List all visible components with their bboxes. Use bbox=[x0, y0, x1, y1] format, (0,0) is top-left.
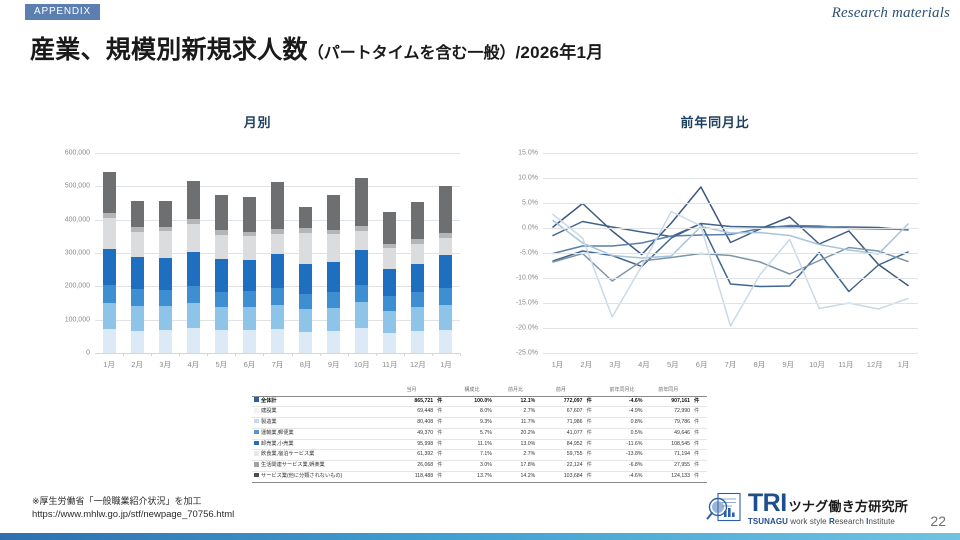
bar-slot-6[interactable] bbox=[263, 153, 291, 353]
appendix-tag: APPENDIX bbox=[25, 4, 100, 20]
table-body: 全体計865,721件100.0%12.1%772,097件-4.6%907,1… bbox=[252, 396, 707, 482]
table-cell-current: 26,068 bbox=[388, 461, 435, 472]
bar-segment-3 bbox=[383, 269, 396, 296]
bar-segment-0 bbox=[327, 331, 340, 353]
bar-segment-6 bbox=[355, 178, 368, 226]
research-materials-label: Research materials bbox=[832, 5, 950, 22]
bar-segment-0 bbox=[103, 329, 116, 353]
th-blank bbox=[252, 386, 388, 396]
bar-segment-4 bbox=[103, 218, 116, 249]
line-ytick-0: 15.0% bbox=[518, 150, 538, 157]
bar-segment-3 bbox=[187, 252, 200, 286]
table-cell-current: 69,448 bbox=[388, 407, 435, 418]
bar-segment-0 bbox=[411, 331, 424, 353]
line-gridline-2 bbox=[543, 203, 918, 204]
bar-segment-6 bbox=[243, 197, 256, 232]
line-xlabel-5: 6月 bbox=[687, 359, 716, 370]
table-cell-unit-1: 件 bbox=[435, 439, 450, 450]
bar-chart-plot-area: 600,000500,000400,000300,000200,000100,0… bbox=[95, 153, 460, 353]
table-cell-mom: 2.7% bbox=[494, 407, 537, 418]
table-cell-prev-year: 907,161 bbox=[644, 396, 692, 407]
bar-xlabel-3: 4月 bbox=[179, 359, 207, 370]
th-composition: 構成比 bbox=[450, 386, 494, 396]
bar-slot-3[interactable] bbox=[179, 153, 207, 353]
bar-segment-1 bbox=[383, 311, 396, 333]
bar-xtick-11 bbox=[432, 353, 433, 356]
bar-segment-6 bbox=[271, 182, 284, 229]
bar-segment-3 bbox=[271, 254, 284, 288]
line-xlabel-12: 1月 bbox=[889, 359, 918, 370]
line-chart-title: 前年同月比 bbox=[495, 112, 935, 131]
legend-swatch-icon bbox=[254, 419, 259, 424]
table-cell-yoy: -4.9% bbox=[599, 407, 644, 418]
bar-columns bbox=[95, 153, 460, 353]
bar-segment-3 bbox=[159, 258, 172, 290]
table-cell-mom: 11.7% bbox=[494, 418, 537, 429]
bar-segment-3 bbox=[355, 250, 368, 285]
bar-segment-4 bbox=[271, 234, 284, 254]
line-xlabel-1: 2月 bbox=[572, 359, 601, 370]
table-row[interactable]: 製造業80,408件9.3%11.7%71,986件0.8%79,786件 bbox=[252, 418, 707, 429]
industry-data-table: 当月 構成比 前月比 前月 前年同月比 前年同月 全体計865,721件100.… bbox=[252, 386, 707, 483]
bar-xtick-7 bbox=[320, 353, 321, 356]
bar-segment-1 bbox=[355, 302, 368, 328]
bar-xtick-6 bbox=[292, 353, 293, 356]
bar-xtick-5 bbox=[263, 353, 264, 356]
stacked-bar-6月-5[interactable] bbox=[243, 197, 256, 353]
bar-xtick-2 bbox=[179, 353, 180, 356]
table-cell-current: 118,488 bbox=[388, 472, 435, 483]
stacked-bar-9月-8[interactable] bbox=[327, 195, 340, 353]
legend-swatch-icon bbox=[254, 451, 259, 456]
line-xlabel-0: 1月 bbox=[543, 359, 572, 370]
th-unit-1 bbox=[435, 386, 450, 396]
stacked-bar-10月-9[interactable] bbox=[355, 178, 368, 353]
line-gridline-3 bbox=[543, 228, 918, 229]
table-cell-unit-3: 件 bbox=[692, 461, 707, 472]
th-current-month: 当月 bbox=[388, 386, 435, 396]
table-cell-mom: 13.0% bbox=[494, 439, 537, 450]
table-cell-composition: 13.7% bbox=[450, 472, 494, 483]
bar-xtick-0 bbox=[123, 353, 124, 356]
bar-chart-x-axis-labels: 1月2月3月4月5月6月7月8月9月10月11月12月1月 bbox=[95, 359, 460, 370]
table-cell-mom: 20.2% bbox=[494, 428, 537, 439]
table-row[interactable]: 生活関連サービス業,娯楽業26,068件3.0%17.8%22,124件-6.8… bbox=[252, 461, 707, 472]
line-xlabel-3: 4月 bbox=[630, 359, 659, 370]
bar-segment-1 bbox=[439, 305, 452, 330]
table-row[interactable]: サービス業(他に分類されないもの)118,488件13.7%14.2%103,6… bbox=[252, 472, 707, 483]
table-cell-prev-year: 72,990 bbox=[644, 407, 692, 418]
stacked-bar-1月-0[interactable] bbox=[103, 172, 116, 353]
table-cell-prev-month: 22,124 bbox=[537, 461, 584, 472]
bar-ytick-6: 0 bbox=[86, 350, 90, 357]
table-header: 当月 構成比 前月比 前月 前年同月比 前年同月 bbox=[252, 386, 707, 396]
legend-swatch-icon bbox=[254, 462, 259, 467]
line-xlabel-2: 3月 bbox=[601, 359, 630, 370]
bar-segment-0 bbox=[439, 330, 452, 353]
bar-segment-3 bbox=[131, 257, 144, 289]
line-gridline-6 bbox=[543, 303, 918, 304]
stacked-bar-7月-6[interactable] bbox=[271, 182, 284, 353]
tri-logo-text: TRI ツナグ働き方研究所 TSUNAGU work style Researc… bbox=[748, 491, 908, 526]
table-row[interactable]: 卸売業,小売業95,998件11.1%13.0%84,952件-11.6%108… bbox=[252, 439, 707, 450]
table-cell-composition: 100.0% bbox=[450, 396, 494, 407]
bar-segment-2 bbox=[299, 294, 312, 309]
table-cell-yoy: 0.5% bbox=[599, 428, 644, 439]
table-cell-mom: 14.2% bbox=[494, 472, 537, 483]
bar-slot-9[interactable] bbox=[348, 153, 376, 353]
table-cell-yoy: -6.8% bbox=[599, 461, 644, 472]
bar-chart-title: 月別 bbox=[45, 112, 470, 131]
line-chart-x-axis-labels: 1月2月3月4月5月6月7月8月9月10月11月12月1月 bbox=[543, 359, 918, 370]
line-series-1[interactable] bbox=[553, 187, 908, 286]
table-cell-prev-year: 49,646 bbox=[644, 428, 692, 439]
table-cell-prev-month: 772,097 bbox=[537, 396, 584, 407]
line-gridline-5 bbox=[543, 278, 918, 279]
bar-slot-11[interactable] bbox=[404, 153, 432, 353]
bar-slot-2[interactable] bbox=[151, 153, 179, 353]
industry-label: 生活関連サービス業,娯楽業 bbox=[261, 462, 325, 468]
bar-xtick-4 bbox=[235, 353, 236, 356]
source-note: ※厚生労働省「一般職業紹介状況」を加工 https://www.mhlw.go.… bbox=[32, 495, 234, 522]
th-unit-3 bbox=[692, 386, 707, 396]
line-gridline-0 bbox=[543, 153, 918, 154]
bar-segment-4 bbox=[131, 232, 144, 257]
bar-segment-6 bbox=[439, 186, 452, 234]
table-cell-prev-year: 71,194 bbox=[644, 450, 692, 461]
table-cell-mom: 12.1% bbox=[494, 396, 537, 407]
bar-segment-1 bbox=[103, 303, 116, 329]
line-xlabel-10: 11月 bbox=[831, 359, 860, 370]
line-chart-plot-area: 15.0%10.0%5.0%0.0%-5.0%-10.0%-15.0%-20.0… bbox=[543, 153, 918, 353]
th-mom-ratio: 前月比 bbox=[494, 386, 537, 396]
legend-swatch-icon bbox=[254, 408, 259, 413]
stacked-bar-12月-11[interactable] bbox=[411, 202, 424, 353]
table-cell-mom: 2.7% bbox=[494, 450, 537, 461]
bar-xtick-10 bbox=[404, 353, 405, 356]
table-row[interactable]: 運輸業,郵便業49,370件5.7%20.2%41,077件0.5%49,646… bbox=[252, 428, 707, 439]
bar-segment-1 bbox=[327, 308, 340, 331]
source-note-line1: ※厚生労働省「一般職業紹介状況」を加工 bbox=[32, 495, 234, 508]
table-cell-yoy: -13.8% bbox=[599, 450, 644, 461]
bar-segment-2 bbox=[187, 286, 200, 303]
table-cell-unit-2: 件 bbox=[585, 407, 600, 418]
bar-xlabel-8: 9月 bbox=[320, 359, 348, 370]
table-cell-current: 80,408 bbox=[388, 418, 435, 429]
bar-segment-6 bbox=[159, 201, 172, 227]
bar-ytick-0: 600,000 bbox=[65, 150, 90, 157]
tri-logo-tagline: TSUNAGU work style Research Institute bbox=[748, 518, 908, 526]
bar-segment-3 bbox=[327, 262, 340, 292]
bar-segment-0 bbox=[159, 330, 172, 353]
table-cell-unit-3: 件 bbox=[692, 450, 707, 461]
industry-label: 製造業 bbox=[261, 419, 277, 425]
bar-slot-4[interactable] bbox=[207, 153, 235, 353]
table-cell-industry-name: サービス業(他に分類されないもの) bbox=[252, 472, 388, 483]
line-ytick-2: 5.0% bbox=[522, 200, 538, 207]
table-cell-prev-year: 27,955 bbox=[644, 461, 692, 472]
table-cell-unit-3: 件 bbox=[692, 407, 707, 418]
line-chart-yoy: 前年同月比 15.0%10.0%5.0%0.0%-5.0%-10.0%-15.0… bbox=[495, 112, 935, 353]
bar-segment-6 bbox=[187, 181, 200, 219]
bar-segment-3 bbox=[299, 264, 312, 294]
table-cell-prev-year: 124,133 bbox=[644, 472, 692, 483]
table-header-row: 当月 構成比 前月比 前月 前年同月比 前年同月 bbox=[252, 386, 707, 396]
line-series-2[interactable] bbox=[553, 226, 908, 254]
bar-segment-6 bbox=[327, 195, 340, 230]
table-cell-industry-name: 生活関連サービス業,娯楽業 bbox=[252, 461, 388, 472]
line-ytick-1: 10.0% bbox=[518, 175, 538, 182]
bar-segment-2 bbox=[131, 289, 144, 306]
bar-xlabel-2: 3月 bbox=[151, 359, 179, 370]
bar-segment-4 bbox=[327, 234, 340, 262]
tri-logo-research: esearch bbox=[835, 517, 866, 526]
bar-segment-0 bbox=[299, 332, 312, 353]
bar-segment-2 bbox=[159, 290, 172, 306]
bar-xlabel-12: 1月 bbox=[432, 359, 460, 370]
line-ytick-5: -10.0% bbox=[516, 275, 538, 282]
table-cell-current: 95,998 bbox=[388, 439, 435, 450]
bar-segment-1 bbox=[187, 303, 200, 328]
bar-xtick-8 bbox=[348, 353, 349, 356]
stacked-bar-11月-10[interactable] bbox=[383, 212, 396, 353]
line-ytick-6: -15.0% bbox=[516, 300, 538, 307]
bar-segment-2 bbox=[439, 288, 452, 305]
tri-logo-workstyle: work style bbox=[788, 517, 829, 526]
table-cell-prev-month: 103,684 bbox=[537, 472, 584, 483]
bar-segment-4 bbox=[383, 248, 396, 269]
table-cell-industry-name: 製造業 bbox=[252, 418, 388, 429]
table-cell-prev-month: 41,077 bbox=[537, 428, 584, 439]
bar-segment-2 bbox=[411, 292, 424, 307]
table-cell-yoy: -4.6% bbox=[599, 396, 644, 407]
bottom-accent-bar bbox=[0, 533, 960, 540]
bar-xlabel-4: 5月 bbox=[207, 359, 235, 370]
industry-label: 飲食業,宿泊サービス業 bbox=[261, 451, 314, 457]
industry-label: 運輸業,郵便業 bbox=[261, 430, 294, 436]
table-cell-unit-1: 件 bbox=[435, 396, 450, 407]
bar-xtick-9 bbox=[376, 353, 377, 356]
table-cell-unit-2: 件 bbox=[585, 418, 600, 429]
table-cell-yoy: -4.6% bbox=[599, 472, 644, 483]
bar-slot-10[interactable] bbox=[376, 153, 404, 353]
table-cell-current: 49,370 bbox=[388, 428, 435, 439]
industry-label: 卸売業,小売業 bbox=[261, 441, 294, 447]
bar-slot-12[interactable] bbox=[432, 153, 460, 353]
tri-logo-institute: nstitute bbox=[868, 517, 894, 526]
table-cell-prev-month: 84,952 bbox=[537, 439, 584, 450]
bar-segment-0 bbox=[187, 328, 200, 353]
table-cell-composition: 3.0% bbox=[450, 461, 494, 472]
bar-segment-4 bbox=[355, 231, 368, 251]
bar-segment-1 bbox=[215, 307, 228, 331]
table-cell-composition: 9.3% bbox=[450, 418, 494, 429]
table-cell-prev-year: 108,545 bbox=[644, 439, 692, 450]
bar-segment-4 bbox=[187, 224, 200, 252]
stacked-bar-5月-4[interactable] bbox=[215, 195, 228, 353]
table-cell-unit-1: 件 bbox=[435, 407, 450, 418]
table-cell-composition: 8.0% bbox=[450, 407, 494, 418]
th-unit-2 bbox=[585, 386, 600, 396]
stacked-bar-8月-7[interactable] bbox=[299, 207, 312, 353]
bar-segment-1 bbox=[243, 307, 256, 330]
table-cell-mom: 17.8% bbox=[494, 461, 537, 472]
table-cell-unit-3: 件 bbox=[692, 439, 707, 450]
line-ytick-8: -25.0% bbox=[516, 350, 538, 357]
table-cell-unit-1: 件 bbox=[435, 461, 450, 472]
bar-xlabel-6: 7月 bbox=[263, 359, 291, 370]
bar-slot-1[interactable] bbox=[123, 153, 151, 353]
bar-ytick-3: 300,000 bbox=[65, 250, 90, 257]
table-cell-unit-1: 件 bbox=[435, 450, 450, 461]
bar-segment-4 bbox=[159, 231, 172, 257]
bar-gridline-6 bbox=[95, 353, 460, 354]
source-note-url[interactable]: https://www.mhlw.go.jp/stf/newpage_70756… bbox=[32, 508, 234, 522]
bar-ytick-5: 100,000 bbox=[65, 316, 90, 323]
table-cell-industry-name: 飲食業,宿泊サービス業 bbox=[252, 450, 388, 461]
bar-segment-6 bbox=[103, 172, 116, 213]
stacked-bar-1月-12[interactable] bbox=[439, 186, 452, 353]
line-gridline-1 bbox=[543, 178, 918, 179]
stacked-bar-3月-2[interactable] bbox=[159, 201, 172, 353]
table-row[interactable]: 全体計865,721件100.0%12.1%772,097件-4.6%907,1… bbox=[252, 396, 707, 407]
bar-segment-4 bbox=[215, 235, 228, 259]
table-cell-yoy: -11.6% bbox=[599, 439, 644, 450]
stacked-bar-2月-1[interactable] bbox=[131, 201, 144, 353]
bar-segment-1 bbox=[131, 306, 144, 331]
bar-segment-4 bbox=[439, 238, 452, 255]
bar-segment-3 bbox=[103, 249, 116, 285]
bar-segment-0 bbox=[271, 329, 284, 353]
table-cell-industry-name: 卸売業,小売業 bbox=[252, 439, 388, 450]
th-prev-year-month: 前年同月 bbox=[644, 386, 692, 396]
bar-chart-monthly: 月別 600,000500,000400,000300,000200,00010… bbox=[45, 112, 470, 353]
bar-segment-1 bbox=[411, 307, 424, 331]
line-xlabel-7: 8月 bbox=[745, 359, 774, 370]
bar-segment-6 bbox=[299, 207, 312, 228]
bar-segment-0 bbox=[131, 331, 144, 353]
table-cell-current: 865,721 bbox=[388, 396, 435, 407]
bar-slot-7[interactable] bbox=[292, 153, 320, 353]
bar-segment-2 bbox=[271, 288, 284, 305]
bar-segment-2 bbox=[383, 296, 396, 311]
line-xlabel-11: 12月 bbox=[860, 359, 889, 370]
tri-logo-mark-icon bbox=[705, 492, 745, 526]
bar-segment-1 bbox=[159, 306, 172, 330]
bar-segment-2 bbox=[103, 285, 116, 303]
line-ytick-7: -20.0% bbox=[516, 325, 538, 332]
table-cell-unit-1: 件 bbox=[435, 472, 450, 483]
table-cell-unit-1: 件 bbox=[435, 418, 450, 429]
line-xlabel-4: 5月 bbox=[658, 359, 687, 370]
table-cell-industry-name: 全体計 bbox=[252, 396, 388, 407]
bar-ytick-2: 400,000 bbox=[65, 216, 90, 223]
page-title-main: 産業、規模別新規求人数 bbox=[30, 36, 308, 64]
table-cell-prev-month: 67,607 bbox=[537, 407, 584, 418]
bar-segment-4 bbox=[243, 236, 256, 260]
bar-segment-2 bbox=[355, 285, 368, 302]
industry-label: 全体計 bbox=[261, 398, 277, 404]
slide-root: APPENDIX Research materials 産業、規模別新規求人数（… bbox=[0, 0, 960, 540]
bar-segment-2 bbox=[327, 292, 340, 308]
bar-segment-4 bbox=[299, 233, 312, 264]
table-cell-unit-1: 件 bbox=[435, 428, 450, 439]
line-xlabel-6: 7月 bbox=[716, 359, 745, 370]
table-cell-composition: 7.1% bbox=[450, 450, 494, 461]
bar-segment-4 bbox=[411, 244, 424, 264]
bar-xtick-1 bbox=[151, 353, 152, 356]
bar-xlabel-10: 11月 bbox=[376, 359, 404, 370]
page-title-sub: （パートタイムを含む一般） bbox=[308, 45, 516, 62]
table-cell-prev-month: 59,755 bbox=[537, 450, 584, 461]
bar-segment-6 bbox=[411, 202, 424, 239]
tri-logo-tsunagu: TSUNAGU bbox=[748, 517, 788, 526]
table-cell-unit-2: 件 bbox=[585, 396, 600, 407]
bar-segment-2 bbox=[243, 291, 256, 307]
bar-slot-0[interactable] bbox=[95, 153, 123, 353]
legend-swatch-icon bbox=[254, 441, 259, 446]
legend-swatch-icon bbox=[254, 430, 259, 435]
table-row[interactable]: 建設業69,448件8.0%2.7%67,607件-4.9%72,990件 bbox=[252, 407, 707, 418]
line-ytick-3: 0.0% bbox=[522, 225, 538, 232]
table-cell-unit-2: 件 bbox=[585, 461, 600, 472]
bar-segment-6 bbox=[383, 212, 396, 243]
th-prev-month: 前月 bbox=[537, 386, 584, 396]
line-gridline-7 bbox=[543, 328, 918, 329]
table-cell-unit-3: 件 bbox=[692, 396, 707, 407]
bar-xlabel-11: 12月 bbox=[404, 359, 432, 370]
table-cell-industry-name: 運輸業,郵便業 bbox=[252, 428, 388, 439]
stacked-bar-4月-3[interactable] bbox=[187, 181, 200, 353]
bar-segment-0 bbox=[215, 330, 228, 353]
table-cell-composition: 5.7% bbox=[450, 428, 494, 439]
table-cell-unit-3: 件 bbox=[692, 472, 707, 483]
bar-segment-0 bbox=[355, 328, 368, 353]
table-cell-unit-2: 件 bbox=[585, 472, 600, 483]
table-cell-unit-2: 件 bbox=[585, 450, 600, 461]
bar-slot-8[interactable] bbox=[320, 153, 348, 353]
bar-segment-1 bbox=[299, 309, 312, 332]
table-row[interactable]: 飲食業,宿泊サービス業61,392件7.1%2.7%59,755件-13.8%7… bbox=[252, 450, 707, 461]
bar-slot-5[interactable] bbox=[235, 153, 263, 353]
legend-swatch-icon bbox=[254, 473, 259, 478]
line-xlabel-8: 9月 bbox=[774, 359, 803, 370]
line-gridline-4 bbox=[543, 253, 918, 254]
bar-xlabel-9: 10月 bbox=[348, 359, 376, 370]
bar-segment-2 bbox=[215, 292, 228, 307]
industry-label: 建設業 bbox=[261, 408, 277, 414]
table-cell-unit-3: 件 bbox=[692, 418, 707, 429]
table-cell-prev-year: 79,786 bbox=[644, 418, 692, 429]
bar-xlabel-5: 6月 bbox=[235, 359, 263, 370]
table-cell-unit-3: 件 bbox=[692, 428, 707, 439]
bar-segment-1 bbox=[271, 305, 284, 329]
bar-segment-3 bbox=[243, 260, 256, 291]
bar-segment-3 bbox=[411, 264, 424, 292]
industry-label: サービス業(他に分類されないもの) bbox=[261, 473, 342, 479]
table-cell-prev-month: 71,986 bbox=[537, 418, 584, 429]
bar-segment-6 bbox=[215, 195, 228, 230]
table-cell-unit-2: 件 bbox=[585, 428, 600, 439]
bar-xtick-12 bbox=[460, 353, 461, 356]
table-cell-industry-name: 建設業 bbox=[252, 407, 388, 418]
line-gridline-8 bbox=[543, 353, 918, 354]
line-xlabel-9: 10月 bbox=[803, 359, 832, 370]
bar-xlabel-7: 8月 bbox=[292, 359, 320, 370]
table-cell-current: 61,392 bbox=[388, 450, 435, 461]
bar-ytick-4: 200,000 bbox=[65, 283, 90, 290]
bar-xlabel-0: 1月 bbox=[95, 359, 123, 370]
